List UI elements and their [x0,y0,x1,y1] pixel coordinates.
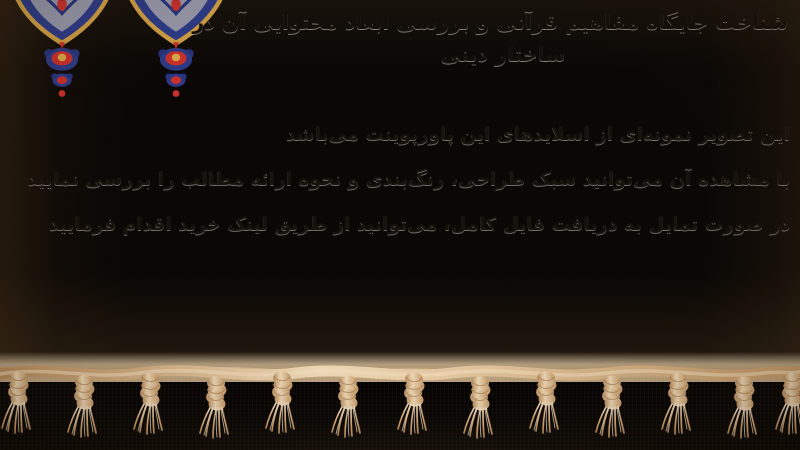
body-line-1: این تصویر نمونه‌ای از اسلایدهای این پاور… [8,112,790,157]
presentation-slide: شناخت جایگاه مفاهیم قرآنی و بررسی ابعاد … [0,0,800,450]
slide-title-line-1: شناخت جایگاه مفاهیم قرآنی و بررسی ابعاد … [218,6,788,38]
slide-title: شناخت جایگاه مفاهیم قرآنی و بررسی ابعاد … [218,6,788,70]
slide-title-line-2: ساختار دینی [218,38,788,70]
slide-body-text: این تصویر نمونه‌ای از اسلایدهای این پاور… [8,112,790,247]
body-line-2: با مشاهده آن می‌توانید سبک طراحی، رنگ‌بن… [8,157,790,202]
carpet-black-band [0,368,800,450]
carpet-band-texture [0,368,800,450]
body-line-3: در صورت تمایل به دریافت فایل کامل، می‌تو… [8,202,790,247]
